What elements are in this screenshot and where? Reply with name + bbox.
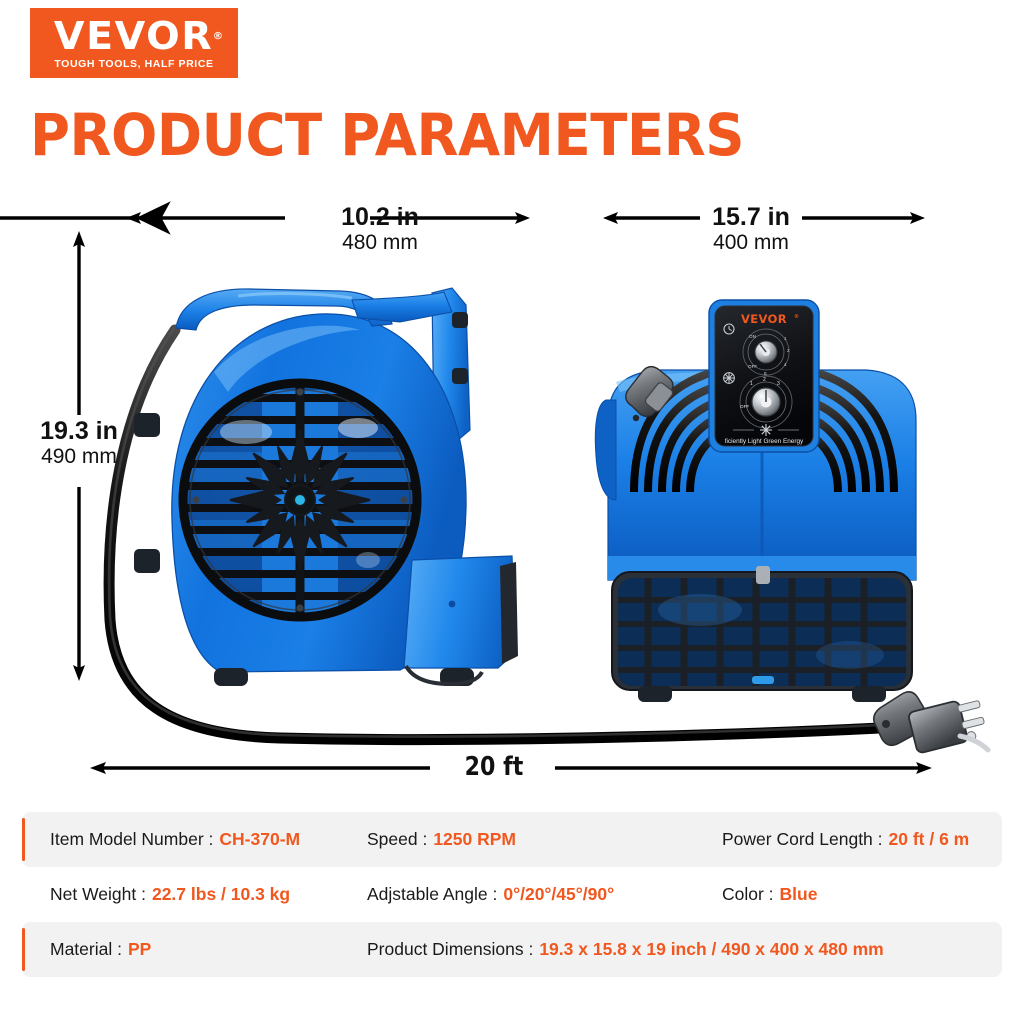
svg-text:ficiently Light Green Energy: ficiently Light Green Energy bbox=[725, 438, 804, 445]
registered-trademark-icon: ® bbox=[213, 17, 225, 57]
product-parameters-infographic: VEVOR ® TOUGH TOOLS, HALF PRICE PRODUCT … bbox=[0, 0, 1024, 1024]
spec-value: 0°/20°/45°/90° bbox=[503, 884, 614, 905]
outlet-grid bbox=[618, 575, 906, 690]
page-title: PRODUCT PARAMETERS bbox=[30, 104, 744, 166]
coiled-cord bbox=[634, 366, 894, 492]
power-cord bbox=[109, 327, 880, 740]
spec-label: Adjstable Angle : bbox=[367, 884, 497, 905]
svg-text:ON: ON bbox=[749, 334, 756, 339]
spec-label: Power Cord Length : bbox=[722, 829, 883, 850]
spec-material: Material : PP bbox=[50, 939, 151, 960]
brand-tagline: TOUGH TOOLS, HALF PRICE bbox=[54, 58, 213, 70]
timer-knob-icon: ON OFF 1 2 4 8 bbox=[724, 324, 790, 376]
snowflake-icon bbox=[760, 424, 772, 436]
spec-label: Item Model Number : bbox=[50, 829, 213, 850]
spec-color: Color : Blue bbox=[722, 884, 817, 905]
fan-grille bbox=[183, 383, 417, 617]
spec-value: PP bbox=[128, 939, 151, 960]
control-panel: VEVOR ® ON OFF 1 2 4 8 bbox=[709, 300, 819, 452]
svg-text:1: 1 bbox=[750, 381, 753, 387]
power-plug-icon bbox=[874, 692, 988, 754]
spec-speed: Speed : 1250 RPM bbox=[367, 829, 516, 850]
svg-text:VEVOR: VEVOR bbox=[741, 312, 787, 326]
spec-value: 1250 RPM bbox=[433, 829, 516, 850]
dimension-label-width-left: 10.2 in 480 mm bbox=[290, 204, 470, 255]
svg-text:3: 3 bbox=[777, 381, 780, 387]
dimension-label-width-right: 15.7 in 400 mm bbox=[661, 204, 841, 255]
spec-net-weight: Net Weight : 22.7 lbs / 10.3 kg bbox=[50, 884, 290, 905]
spec-value: 22.7 lbs / 10.3 kg bbox=[152, 884, 290, 905]
spec-label: Speed : bbox=[367, 829, 427, 850]
spec-label: Product Dimensions : bbox=[367, 939, 533, 960]
speed-knob-icon: 1 2 3 OFF bbox=[724, 373, 792, 428]
dim-height-mm: 490 mm bbox=[0, 445, 158, 469]
spec-product-dimensions: Product Dimensions : 19.3 x 15.8 x 19 in… bbox=[367, 939, 884, 960]
brand-name: VEVOR bbox=[54, 14, 213, 58]
dim-width-right-inches: 15.7 in bbox=[661, 204, 841, 231]
table-row: Net Weight : 22.7 lbs / 10.3 kg Adjstabl… bbox=[22, 867, 1002, 922]
svg-text:2: 2 bbox=[787, 348, 790, 353]
svg-text:4: 4 bbox=[784, 362, 787, 367]
svg-text:8: 8 bbox=[764, 371, 767, 376]
dim-width-left-inches: 10.2 in bbox=[290, 204, 470, 231]
spec-value: Blue bbox=[780, 884, 818, 905]
spec-value: CH-370-M bbox=[219, 829, 300, 850]
product-side-view bbox=[134, 288, 518, 686]
table-row: Material : PP Product Dimensions : 19.3 … bbox=[22, 922, 1002, 977]
spec-label: Color : bbox=[722, 884, 774, 905]
dim-cord-feet: 20 ft bbox=[441, 753, 546, 781]
dimension-label-cord-length: 20 ft bbox=[432, 753, 556, 781]
svg-text:OFF: OFF bbox=[740, 404, 749, 409]
spec-item-model-number: Item Model Number : CH-370-M bbox=[50, 829, 300, 850]
dim-width-right-mm: 400 mm bbox=[661, 231, 841, 255]
spec-value: 19.3 x 15.8 x 19 inch / 490 x 400 x 480 … bbox=[539, 939, 883, 960]
svg-text:1: 1 bbox=[784, 336, 787, 341]
specifications-table: Item Model Number : CH-370-M Speed : 125… bbox=[22, 812, 1002, 977]
svg-text:®: ® bbox=[794, 314, 799, 320]
dimension-label-height: 19.3 in 490 mm bbox=[0, 418, 158, 469]
brand-wordmark: VEVOR ® bbox=[54, 16, 213, 56]
table-row: Item Model Number : CH-370-M Speed : 125… bbox=[22, 812, 1002, 867]
product-front-view: VEVOR ® ON OFF 1 2 4 8 bbox=[595, 300, 916, 702]
spec-label: Net Weight : bbox=[50, 884, 146, 905]
spec-value: 20 ft / 6 m bbox=[889, 829, 970, 850]
dim-width-left-mm: 480 mm bbox=[290, 231, 470, 255]
hanging-plug-icon bbox=[626, 367, 674, 422]
svg-text:2: 2 bbox=[763, 377, 766, 383]
dim-height-inches: 19.3 in bbox=[0, 418, 158, 445]
spec-label: Material : bbox=[50, 939, 122, 960]
spec-power-cord-length: Power Cord Length : 20 ft / 6 m bbox=[722, 829, 969, 850]
vevor-logo: VEVOR ® TOUGH TOOLS, HALF PRICE bbox=[30, 8, 238, 78]
spec-adjustable-angle: Adjstable Angle : 0°/20°/45°/90° bbox=[367, 884, 614, 905]
svg-text:OFF: OFF bbox=[748, 364, 757, 369]
